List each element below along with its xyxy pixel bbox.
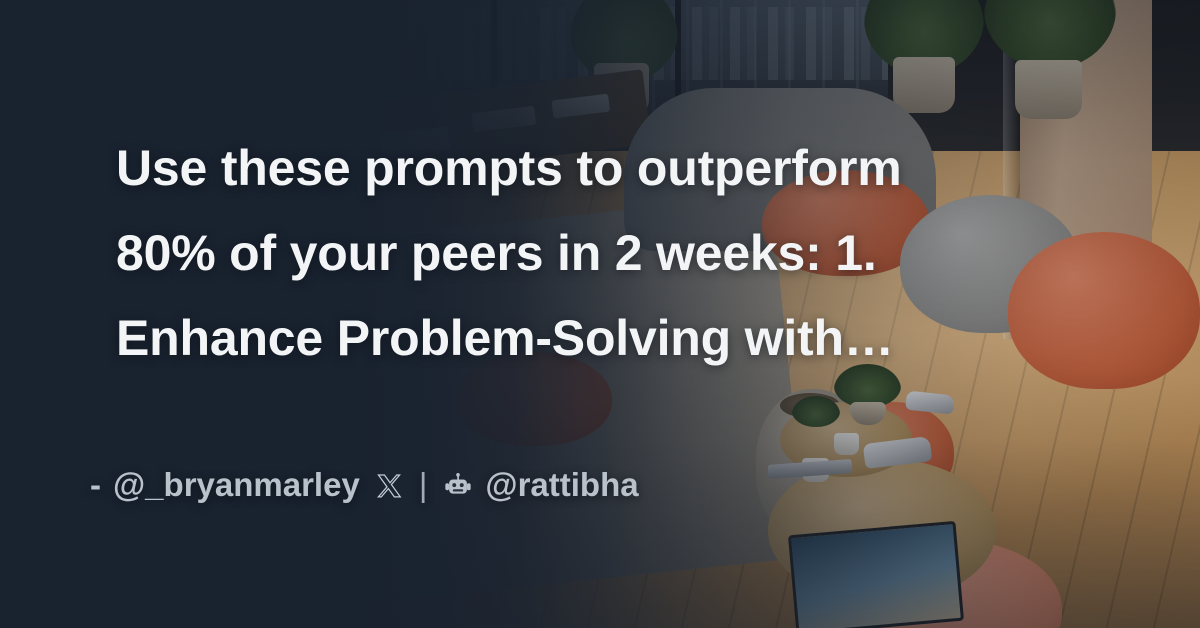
attribution-line: - @_bryanmarley | @ [90, 466, 639, 504]
attribution-separator: | [419, 466, 428, 504]
robot-icon [443, 472, 473, 502]
author-handle[interactable]: @_bryanmarley [113, 466, 360, 504]
headline-line-3: Enhance Problem-Solving with… [116, 296, 1016, 381]
source-handle[interactable]: @rattibha [485, 466, 638, 504]
attribution-dash: - [90, 466, 101, 504]
headline-text: Use these prompts to outperform 80% of y… [116, 126, 1016, 381]
headline-line-1: Use these prompts to outperform [116, 126, 1016, 211]
x-logo-icon[interactable] [376, 473, 403, 500]
headline-line-2: 80% of your peers in 2 weeks: 1. [116, 211, 1016, 296]
card-content: Use these prompts to outperform 80% of y… [0, 0, 1200, 628]
social-share-card: Use these prompts to outperform 80% of y… [0, 0, 1200, 628]
